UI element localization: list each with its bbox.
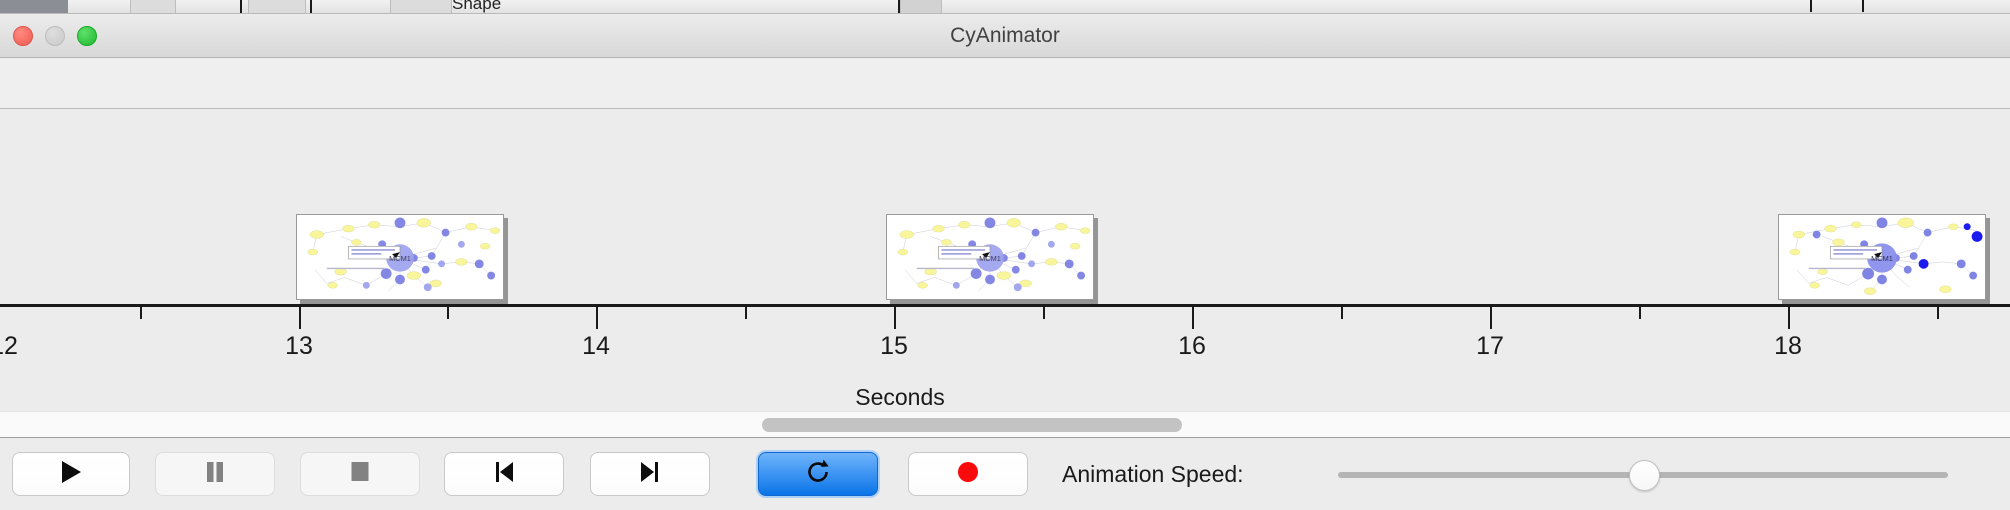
animation-speed-label: Animation Speed:: [1062, 452, 1244, 496]
background-window-cell: [248, 0, 306, 14]
background-window-divider: [898, 0, 900, 14]
stop-icon: [348, 459, 372, 490]
pause-button[interactable]: [155, 452, 275, 496]
network-graph-preview: MCM1: [887, 215, 1093, 299]
timeline-ruler[interactable]: 12 13 14 15 16 17 18 Seconds: [0, 304, 2010, 411]
loop-icon: [804, 458, 832, 491]
hub-node-label: MCM1: [979, 254, 1001, 263]
hub-node-label: MCM1: [389, 254, 411, 263]
play-button[interactable]: [12, 452, 130, 496]
loop-button[interactable]: [758, 452, 878, 496]
background-window-cell: [900, 0, 942, 14]
horizontal-scrollbar-thumb[interactable]: [762, 418, 1182, 432]
ruler-tick-major: [894, 307, 896, 329]
axis-label-text: Seconds: [855, 384, 945, 410]
record-button[interactable]: [908, 452, 1028, 496]
ruler-label: 12: [0, 332, 18, 361]
frame-thumbnail-1[interactable]: MCM1: [296, 214, 504, 300]
ruler-tick-minor: [745, 307, 747, 319]
ruler-label: 17: [1476, 332, 1504, 361]
background-window-sidebar: [0, 0, 68, 13]
skip-forward-icon: [638, 459, 662, 490]
ruler-label: 16: [1178, 332, 1206, 361]
ruler-baseline: [0, 304, 2010, 307]
network-graph-preview: MCM1: [1779, 215, 1985, 299]
stop-button[interactable]: [300, 452, 420, 496]
frame-thumbnail-2[interactable]: MCM1: [886, 214, 1094, 300]
ruler-tick-major: [1192, 307, 1194, 329]
ruler-tick-minor: [1341, 307, 1343, 319]
timeline-panel[interactable]: MCM1: [0, 109, 2010, 411]
playback-control-bar: Animation Speed:: [0, 438, 2010, 510]
background-window[interactable]: Shape: [0, 0, 2010, 14]
horizontal-scrollbar[interactable]: [0, 411, 2010, 438]
ruler-tick-major: [1490, 307, 1492, 329]
ruler-tick-minor: [1937, 307, 1939, 319]
ruler-label: 13: [285, 332, 313, 361]
background-window-label: Shape: [452, 0, 501, 14]
animation-speed-slider-thumb[interactable]: [1629, 460, 1660, 491]
ruler-label: 15: [880, 332, 908, 361]
skip-back-icon: [492, 459, 516, 490]
play-icon: [59, 459, 83, 490]
frame-thumbnails-container: MCM1: [0, 109, 2010, 304]
toolbar: + Clear All Frames: [0, 59, 2010, 109]
ruler-label: 14: [582, 332, 610, 361]
pause-icon: [203, 459, 227, 490]
ruler-tick-minor: [1043, 307, 1045, 319]
background-window-divider: [1810, 0, 1812, 12]
axis-label: Seconds: [0, 384, 2010, 411]
skip-to-last-frame-button[interactable]: [590, 452, 710, 496]
background-window-cell: [390, 0, 452, 14]
hub-node-label: MCM1: [1871, 254, 1893, 263]
skip-to-first-frame-button[interactable]: [444, 452, 564, 496]
record-icon: [955, 459, 981, 490]
title-bar: CyAnimator: [0, 14, 2010, 58]
ruler-tick-major: [299, 307, 301, 329]
background-window-divider: [310, 0, 312, 14]
network-graph-preview: MCM1: [297, 215, 503, 299]
ruler-tick-minor: [447, 307, 449, 319]
frame-thumbnail-3[interactable]: MCM1: [1778, 214, 1986, 300]
ruler-tick-major: [596, 307, 598, 329]
background-window-divider: [240, 0, 242, 14]
ruler-tick-minor: [140, 307, 142, 319]
background-window-divider: [1862, 0, 1864, 12]
window-title: CyAnimator: [0, 14, 2010, 58]
ruler-tick-major: [1788, 307, 1790, 329]
ruler-tick-minor: [1639, 307, 1641, 319]
background-window-cell: [130, 0, 176, 14]
ruler-label: 18: [1774, 332, 1802, 361]
